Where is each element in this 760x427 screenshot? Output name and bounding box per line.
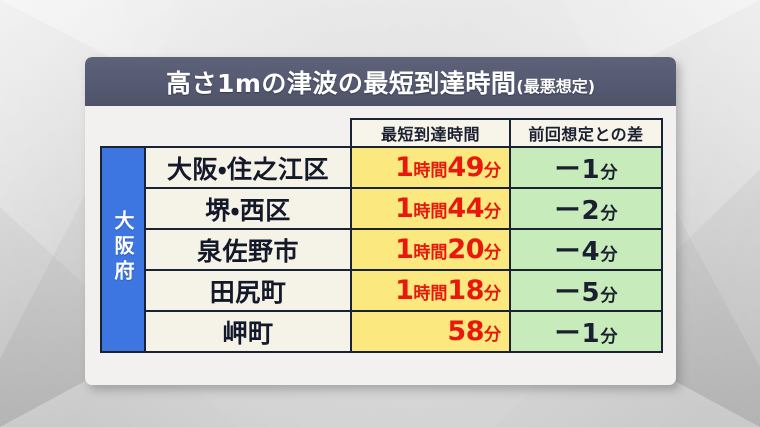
panel-title-bar: 高さ1mの津波の最短到達時間(最悪想定) bbox=[85, 57, 676, 106]
arrival-minutes-value: 18 bbox=[447, 275, 484, 306]
arrival-hours-unit: 時間 bbox=[413, 284, 447, 304]
difference-value: ー1 bbox=[554, 155, 600, 185]
arrival-minutes-value: 58 bbox=[447, 316, 484, 347]
table-row: 堺・西区 1時間44分 ー2分 bbox=[101, 188, 662, 229]
difference-value: ー4 bbox=[554, 237, 600, 267]
arrival-hours-value: 1 bbox=[395, 234, 413, 265]
arrival-hours-value: 1 bbox=[395, 152, 413, 183]
header-spacer-prefecture bbox=[101, 119, 145, 147]
city-name-cell: 田尻町 bbox=[145, 270, 351, 311]
table-row: 泉佐野市 1時間20分 ー4分 bbox=[101, 229, 662, 270]
difference-unit: 分 bbox=[601, 163, 618, 183]
prefecture-label: 大阪府 bbox=[113, 210, 133, 285]
city-name-cell: 泉佐野市 bbox=[145, 229, 351, 270]
city-name-cell: 大阪・住之江区 bbox=[145, 147, 351, 188]
difference-cell: ー1分 bbox=[510, 147, 662, 188]
difference-cell: ー5分 bbox=[510, 270, 662, 311]
table-container: 最短到達時間 前回想定との差 大阪府 大阪・住之江区 1時間49分 ー1分 bbox=[85, 106, 676, 367]
table-row: 田尻町 1時間18分 ー5分 bbox=[101, 270, 662, 311]
arrival-minutes-unit: 分 bbox=[484, 284, 501, 304]
panel-title: 高さ1mの津波の最短到達時間(最悪想定) bbox=[166, 64, 595, 100]
table-row: 岬町 58分 ー1分 bbox=[101, 311, 662, 352]
difference-value: ー2 bbox=[554, 196, 600, 226]
arrival-hours-value: 1 bbox=[395, 275, 413, 306]
arrival-minutes-unit: 分 bbox=[484, 325, 501, 345]
arrival-minutes-unit: 分 bbox=[484, 161, 501, 181]
arrival-minutes-value: 20 bbox=[447, 234, 484, 265]
arrival-time-cell: 1時間44分 bbox=[351, 188, 510, 229]
arrival-time-cell: 58分 bbox=[351, 311, 510, 352]
difference-value: ー5 bbox=[554, 278, 600, 308]
difference-unit: 分 bbox=[601, 327, 618, 347]
city-name-cell: 堺・西区 bbox=[145, 188, 351, 229]
arrival-time-cell: 1時間20分 bbox=[351, 229, 510, 270]
difference-cell: ー1分 bbox=[510, 311, 662, 352]
arrival-hours-unit: 時間 bbox=[413, 161, 447, 181]
difference-value: ー1 bbox=[554, 319, 600, 349]
info-panel: 高さ1mの津波の最短到達時間(最悪想定) 最短到達時間 前回想定との差 bbox=[85, 57, 676, 385]
city-name-cell: 岬町 bbox=[145, 311, 351, 352]
arrival-minutes-value: 49 bbox=[447, 152, 484, 183]
table-header-row: 最短到達時間 前回想定との差 bbox=[101, 119, 662, 147]
header-arrival-time: 最短到達時間 bbox=[351, 119, 510, 147]
tsunami-arrival-table: 最短到達時間 前回想定との差 大阪府 大阪・住之江区 1時間49分 ー1分 bbox=[100, 118, 663, 353]
arrival-hours-unit: 時間 bbox=[413, 243, 447, 263]
arrival-minutes-value: 44 bbox=[447, 193, 484, 224]
arrival-time-cell: 1時間18分 bbox=[351, 270, 510, 311]
table-row: 大阪府 大阪・住之江区 1時間49分 ー1分 bbox=[101, 147, 662, 188]
prefecture-cell-osaka: 大阪府 bbox=[101, 147, 145, 352]
panel-title-main: 高さ1mの津波の最短到達時間 bbox=[166, 69, 516, 98]
header-difference: 前回想定との差 bbox=[510, 119, 662, 147]
arrival-minutes-unit: 分 bbox=[484, 243, 501, 263]
arrival-minutes-unit: 分 bbox=[484, 202, 501, 222]
header-spacer-city bbox=[145, 119, 351, 147]
arrival-time-cell: 1時間49分 bbox=[351, 147, 510, 188]
difference-unit: 分 bbox=[601, 204, 618, 224]
panel-title-sub: (最悪想定) bbox=[516, 77, 595, 96]
difference-unit: 分 bbox=[601, 245, 618, 265]
arrival-hours-unit: 時間 bbox=[413, 202, 447, 222]
difference-unit: 分 bbox=[601, 286, 618, 306]
difference-cell: ー2分 bbox=[510, 188, 662, 229]
arrival-hours-value: 1 bbox=[395, 193, 413, 224]
difference-cell: ー4分 bbox=[510, 229, 662, 270]
